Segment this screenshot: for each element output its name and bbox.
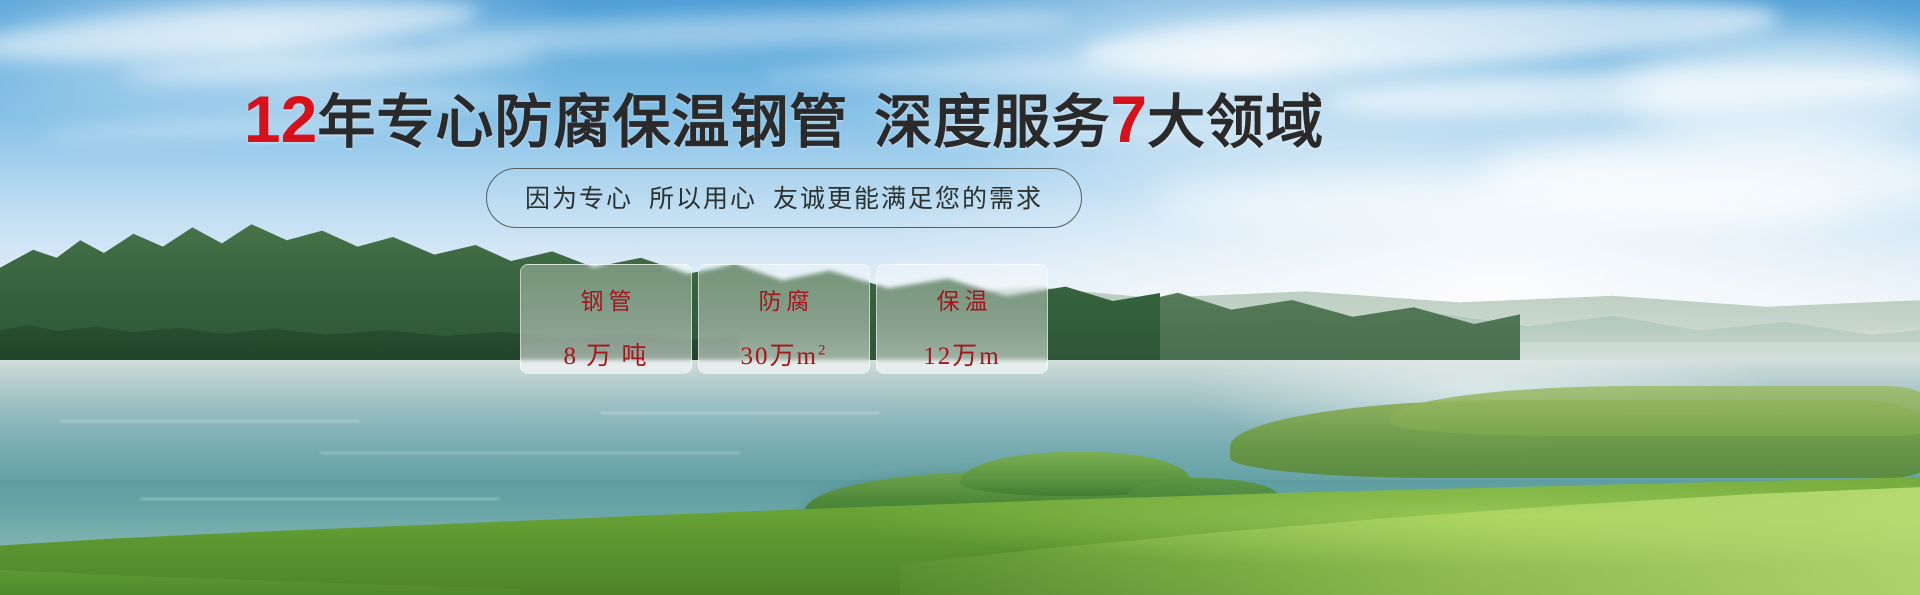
water-ripple xyxy=(320,452,740,454)
subtitle-part-3: 友诚更能满足您的需求 xyxy=(773,185,1043,213)
water-ripple xyxy=(600,412,880,414)
subtitle-part-2: 所以用心 xyxy=(649,185,757,213)
headline-fields-number: 7 xyxy=(1110,82,1147,156)
water-ripple xyxy=(140,498,500,500)
water-ripple xyxy=(60,420,360,422)
stat-label: 防腐 xyxy=(754,282,815,316)
stat-card-insulation[interactable]: 保温 12万m xyxy=(876,264,1048,374)
stat-value: 8 万 吨 xyxy=(563,336,648,372)
stat-card-group: 钢管 8 万 吨 防腐 30万m2 保温 12万m xyxy=(0,264,1568,374)
hero-banner: 12年专心防腐保温钢管深度服务7大领域 因为专心所以用心友诚更能满足您的需求 钢… xyxy=(0,0,1920,595)
stat-value-unit: 2 xyxy=(818,343,828,359)
headline: 12年专心防腐保温钢管深度服务7大领域 xyxy=(0,86,1568,152)
stat-card-anticorrosion[interactable]: 防腐 30万m2 xyxy=(698,264,870,374)
headline-years-number: 12 xyxy=(244,82,317,156)
subtitle-container: 因为专心所以用心友诚更能满足您的需求 xyxy=(0,168,1568,228)
headline-text-secondary: 深度服务 xyxy=(874,90,1110,155)
stat-label: 保温 xyxy=(932,282,993,316)
stat-card-steel-pipe[interactable]: 钢管 8 万 吨 xyxy=(520,264,692,374)
stat-value: 12万m xyxy=(923,336,1000,372)
stat-value: 30万m2 xyxy=(741,336,828,372)
stat-label: 钢管 xyxy=(576,282,637,316)
headline-text-primary: 年专心防腐保温钢管 xyxy=(317,90,848,155)
subtitle-part-1: 因为专心 xyxy=(525,185,633,213)
headline-text-tertiary: 大领域 xyxy=(1147,90,1324,155)
subtitle-pill: 因为专心所以用心友诚更能满足您的需求 xyxy=(486,168,1082,228)
